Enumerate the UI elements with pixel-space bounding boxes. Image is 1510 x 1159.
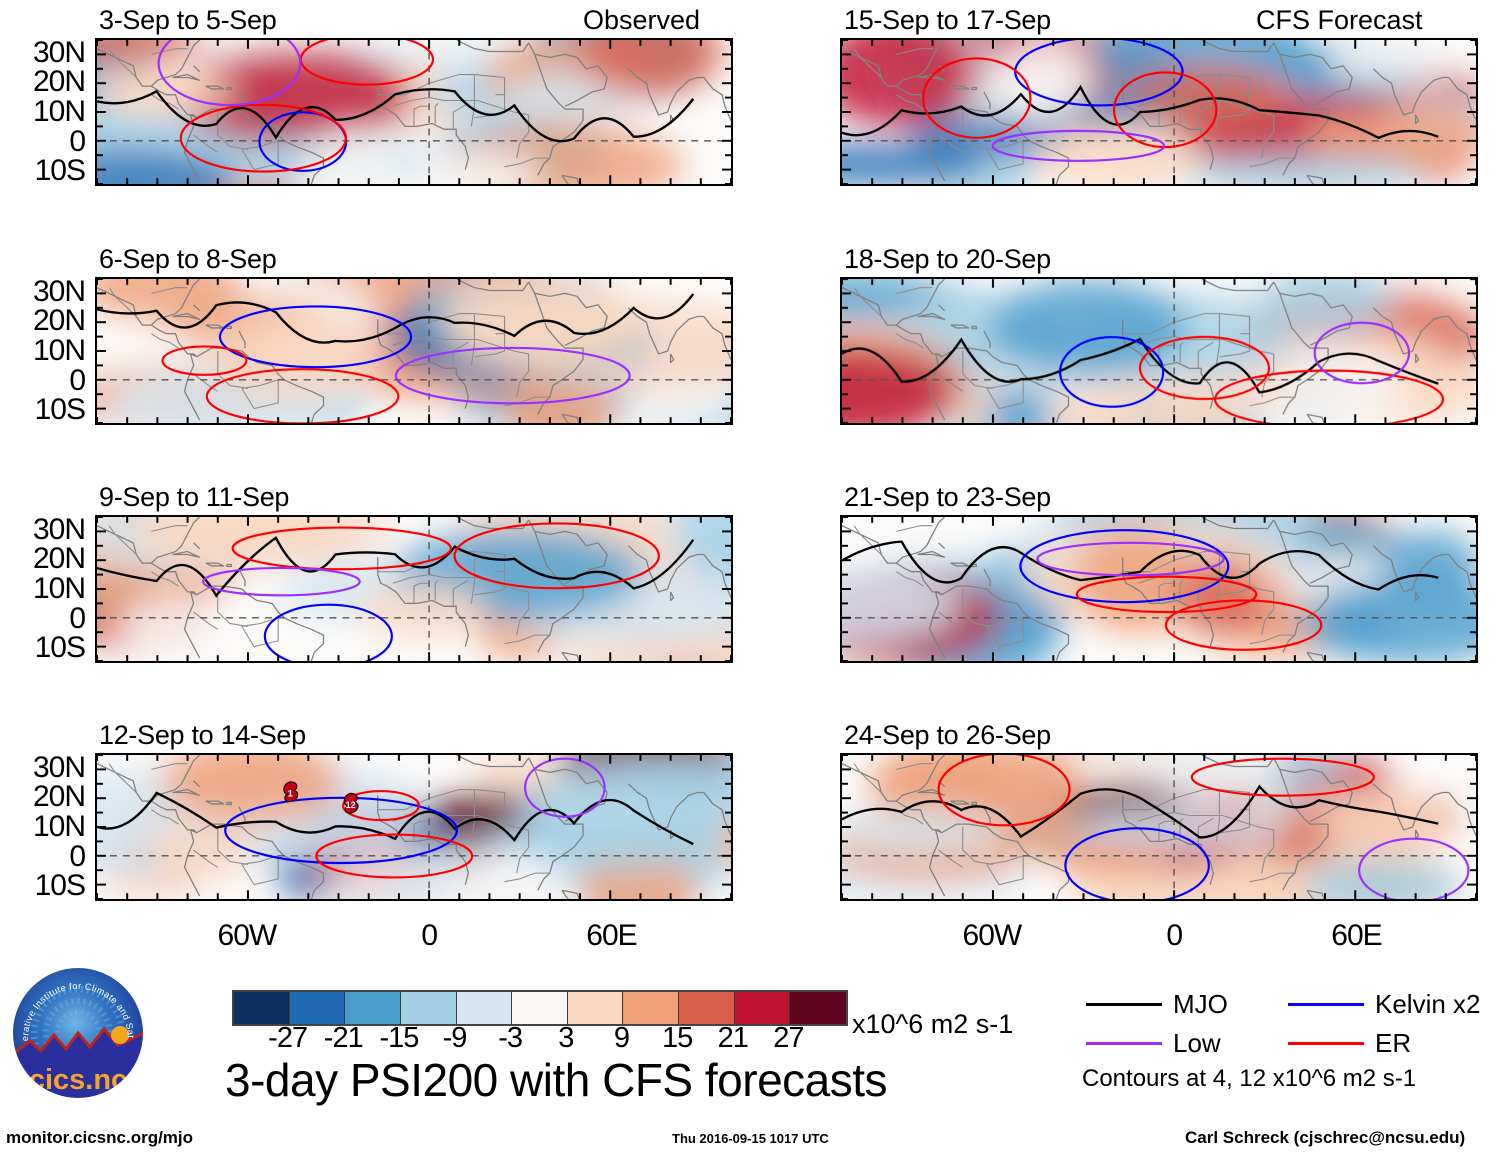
legend-entry-low: Low <box>1086 1028 1221 1059</box>
legend-swatch-line <box>1086 1003 1162 1006</box>
cics-nc-logo: cics.nc Cooperative Institute for Climat… <box>8 963 148 1103</box>
colorbar <box>232 990 848 1026</box>
footer-timestamp: Thu 2016-09-15 1017 UTC <box>672 1131 829 1146</box>
contour-interval-note: Contours at 4, 12 x10^6 m2 s-1 <box>1082 1065 1416 1093</box>
map-panel-5 <box>840 38 1478 186</box>
map-canvas <box>97 517 731 661</box>
legend-entry-er: ER <box>1288 1028 1411 1059</box>
map-panel-3 <box>95 515 733 663</box>
legend-label: MJO <box>1173 989 1228 1020</box>
map-canvas: 112 <box>97 755 731 899</box>
footer-link[interactable]: monitor.cicsnc.org/mjo <box>6 1128 193 1148</box>
colorbar-units-label: x10^6 m2 s-1 <box>852 1009 1013 1040</box>
colorbar-tick-label: 21 <box>718 1022 748 1055</box>
legend-label: Kelvin x2 <box>1375 989 1481 1020</box>
y-axis-tick-label: 10S <box>0 631 85 665</box>
map-panel-2 <box>95 277 733 425</box>
legend-entry-kelvin-x2: Kelvin x2 <box>1288 989 1481 1020</box>
colorbar-swatch-1 <box>290 992 346 1024</box>
figure-title: 3-day PSI200 with CFS forecasts <box>225 1053 887 1107</box>
panel-title-4: 12-Sep to 14-Sep <box>99 720 306 751</box>
colorbar-tick-label: -3 <box>498 1022 522 1055</box>
x-axis-tick-label: 60W <box>187 919 307 953</box>
legend-swatch-line <box>1288 1042 1364 1045</box>
map-canvas <box>842 517 1476 661</box>
y-axis-tick-label: 10S <box>0 154 85 188</box>
colorbar-swatch-5 <box>512 992 568 1024</box>
colorbar-tick-label: 27 <box>773 1022 803 1055</box>
colorbar-tick-label: -9 <box>443 1022 467 1055</box>
colorbar-tick-label: -21 <box>324 1022 363 1055</box>
colorbar-tick-label: -15 <box>379 1022 418 1055</box>
legend-label: ER <box>1375 1028 1411 1059</box>
x-axis-tick-label: 0 <box>369 919 489 953</box>
map-panel-6 <box>840 277 1478 425</box>
map-panel-1 <box>95 38 733 186</box>
map-panel-7 <box>840 515 1478 663</box>
y-axis-tick-label: 10S <box>0 393 85 427</box>
panel-title-5: 15-Sep to 17-Sep <box>844 5 1051 36</box>
colorbar-tick-label: 3 <box>558 1022 573 1055</box>
colorbar-tick-label: 9 <box>614 1022 629 1055</box>
x-axis-tick-label: 60E <box>1296 919 1416 953</box>
colorbar-swatch-0 <box>234 992 290 1024</box>
colorbar-tick-label: 15 <box>662 1022 692 1055</box>
panel-title-2: 6-Sep to 8-Sep <box>99 244 276 275</box>
panel-title-7: 21-Sep to 23-Sep <box>844 482 1051 513</box>
colorbar-swatch-3 <box>401 992 457 1024</box>
colorbar-swatch-8 <box>679 992 735 1024</box>
panel-title-3: 9-Sep to 11-Sep <box>99 482 289 513</box>
panel-title-6: 18-Sep to 20-Sep <box>844 244 1051 275</box>
map-canvas <box>97 279 731 423</box>
colorbar-swatch-6 <box>568 992 624 1024</box>
legend-swatch-line <box>1086 1042 1162 1045</box>
y-axis-tick-label: 10S <box>0 869 85 903</box>
x-axis-tick-label: 60W <box>932 919 1052 953</box>
map-panel-4: 112 <box>95 753 733 901</box>
colorbar-swatch-2 <box>345 992 401 1024</box>
colorbar-swatch-4 <box>457 992 513 1024</box>
colorbar-swatch-10 <box>790 992 846 1024</box>
legend-label: Low <box>1173 1028 1221 1059</box>
colorbar-swatch-9 <box>735 992 791 1024</box>
svg-text:cics.nc: cics.nc <box>29 1064 127 1096</box>
map-canvas <box>842 40 1476 184</box>
map-canvas <box>97 40 731 184</box>
map-canvas <box>842 755 1476 899</box>
column-header-cfs-forecast: CFS Forecast <box>1256 5 1423 36</box>
panel-title-8: 24-Sep to 26-Sep <box>844 720 1051 751</box>
legend-swatch-line <box>1288 1003 1364 1006</box>
x-axis-tick-label: 0 <box>1114 919 1234 953</box>
legend-entry-mjo: MJO <box>1086 989 1228 1020</box>
svg-text:12: 12 <box>346 800 356 810</box>
map-panel-8 <box>840 753 1478 901</box>
x-axis-tick-label: 60E <box>551 919 671 953</box>
map-canvas <box>842 279 1476 423</box>
colorbar-tick-label: -27 <box>268 1022 307 1055</box>
svg-text:1: 1 <box>288 788 293 798</box>
colorbar-swatch-7 <box>623 992 679 1024</box>
footer-author: Carl Schreck (cjschrec@ncsu.edu) <box>1185 1128 1465 1148</box>
panel-title-1: 3-Sep to 5-Sep <box>99 5 276 36</box>
column-header-observed: Observed <box>583 5 700 36</box>
